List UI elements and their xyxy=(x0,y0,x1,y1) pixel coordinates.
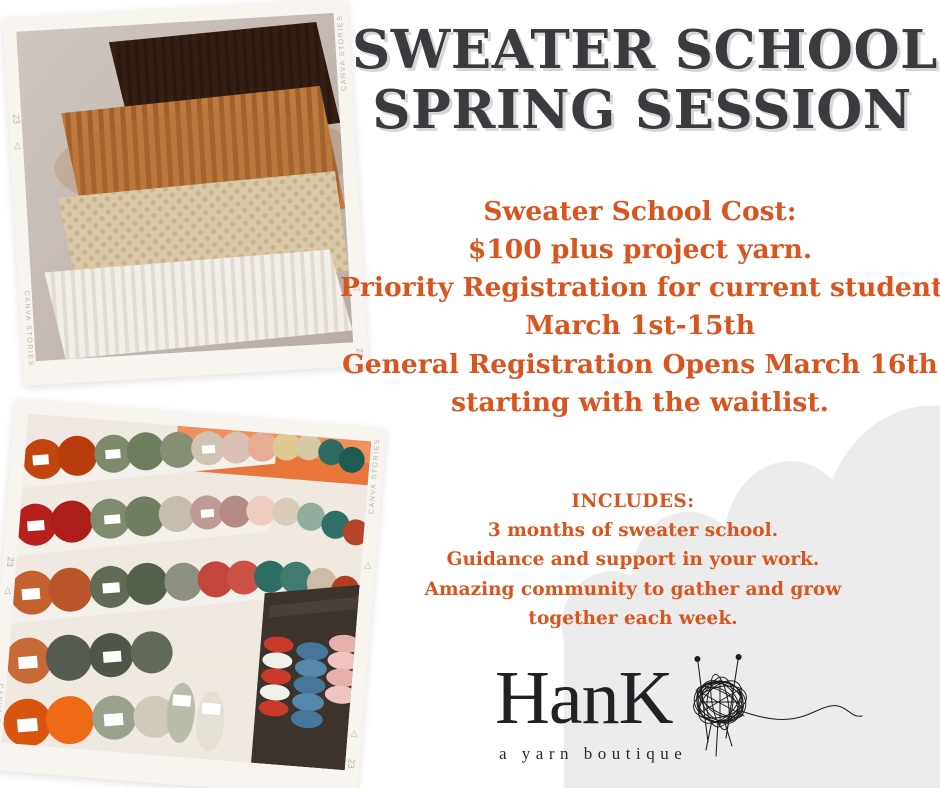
photo-corner-triangle-icon: △ xyxy=(350,728,358,740)
brand-logo: HanK a yarn boutique xyxy=(487,660,787,784)
poster-title: SWEATER SCHOOL SPRING SESSION xyxy=(352,20,932,141)
cost-line: March 1st-15th xyxy=(340,307,940,345)
photo-watermark-number: 23 xyxy=(346,758,357,769)
photo-watermark-right: CANVA STORIES xyxy=(337,14,349,91)
includes-heading: INCLUDES: xyxy=(398,487,868,516)
yarn-ball-and-needles-icon xyxy=(682,646,882,766)
includes-line: 3 months of sweater school. xyxy=(398,516,868,545)
logo-wordmark: HanK xyxy=(495,660,673,736)
cost-line: Priority Registration for current studen… xyxy=(340,269,940,307)
photo-corner-triangle-icon: △ xyxy=(4,584,12,596)
logo-tagline: a yarn boutique xyxy=(499,744,687,764)
title-line-1: SWEATER SCHOOL xyxy=(352,20,932,80)
cost-line: $100 plus project yarn. xyxy=(340,231,940,269)
photo-stacked-sweaters-image xyxy=(16,13,353,361)
includes-line: Guidance and support in your work. xyxy=(398,545,868,574)
includes-line: together each week. xyxy=(398,604,868,633)
photo-stacked-sweaters: CANVA STORIES CANVA STORIES 23 △ △ 23 xyxy=(2,0,368,386)
cost-line: General Registration Opens March 16th xyxy=(340,346,940,384)
poster-canvas: CANVA STORIES CANVA STORIES 23 △ △ 23 xyxy=(0,0,940,788)
includes-details: INCLUDES: 3 months of sweater school. Gu… xyxy=(398,487,868,633)
photo-watermark-number: 23 xyxy=(11,114,22,125)
cost-line: starting with the waitlist. xyxy=(340,384,940,422)
photo-yarn-shelves-image xyxy=(2,414,371,771)
photo-corner-triangle-icon: △ xyxy=(14,140,22,151)
photo-yarn-shelves: CANVA STORIES CANVA STORIES 23 △ △ 23 △ xyxy=(0,399,386,788)
photo-corner-triangle-icon: △ xyxy=(364,559,372,571)
cost-line: Sweater School Cost: xyxy=(340,193,940,231)
photo-watermark-number: 23 xyxy=(5,556,16,567)
title-line-2: SPRING SESSION xyxy=(352,80,932,140)
cost-details: Sweater School Cost: $100 plus project y… xyxy=(340,193,940,422)
includes-line: Amazing community to gather and grow xyxy=(398,575,868,604)
